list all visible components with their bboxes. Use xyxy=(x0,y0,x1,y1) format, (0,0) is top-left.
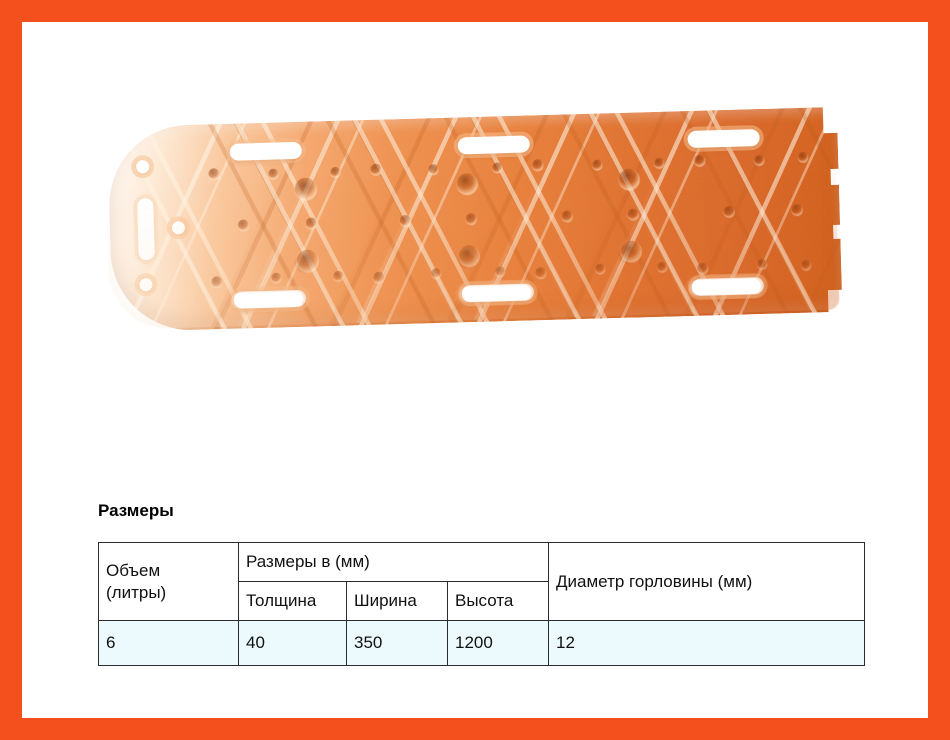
cell-width: 350 xyxy=(347,621,448,666)
header-cell-volume: Объем (литры) xyxy=(99,543,239,621)
spec-section-title: Размеры xyxy=(98,501,174,521)
header-cell-height: Высота xyxy=(448,582,549,621)
header-cell-thickness: Толщина xyxy=(239,582,347,621)
cell-height: 1200 xyxy=(448,621,549,666)
product-photo xyxy=(22,82,928,462)
board-edge-notch xyxy=(833,225,849,239)
header-cell-dimensions-group: Размеры в (мм) xyxy=(239,543,549,582)
content-area: Размеры Объем (литры) Размеры в (мм) Диа… xyxy=(22,22,928,718)
dimensions-table: Объем (литры) Размеры в (мм) Диаметр гор… xyxy=(98,542,865,666)
board-edge-notch xyxy=(828,290,845,312)
board-body xyxy=(107,107,842,332)
header-cell-width: Ширина xyxy=(347,582,448,621)
cell-volume: 6 xyxy=(99,621,239,666)
board-edge-notch xyxy=(831,169,847,185)
table-header-row-1: Объем (литры) Размеры в (мм) Диаметр гор… xyxy=(99,543,865,582)
header-volume-line2: (литры) xyxy=(106,583,166,602)
traction-board-graphic xyxy=(107,107,843,347)
header-cell-neck-diameter: Диаметр горловины (мм) xyxy=(549,543,865,621)
board-edge-notch xyxy=(823,107,840,133)
table-row: 6 40 350 1200 12 xyxy=(99,621,865,666)
header-volume-line1: Объем xyxy=(106,561,160,580)
cell-neck-diameter: 12 xyxy=(549,621,865,666)
cell-thickness: 40 xyxy=(239,621,347,666)
page-frame: Размеры Объем (литры) Размеры в (мм) Диа… xyxy=(0,0,950,740)
